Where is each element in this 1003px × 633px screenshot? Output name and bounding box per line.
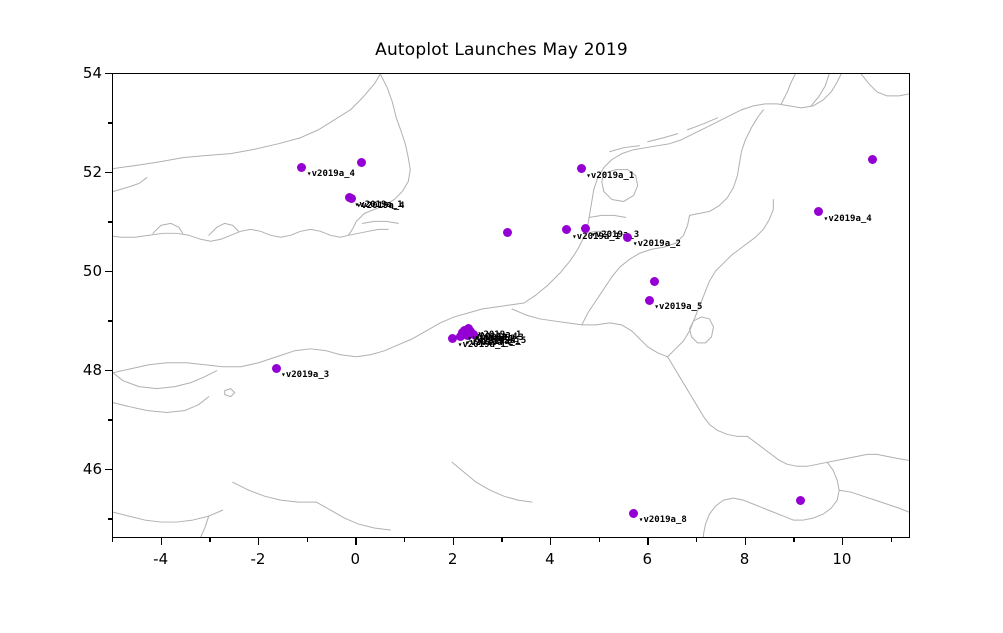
scatter-point[interactable] [503, 228, 512, 237]
scatter-point-label: ▾v2019a_4 [307, 169, 355, 179]
scatter-point-label: ▾v2019a_5 [654, 302, 702, 312]
x-tick-label: -4 [153, 550, 168, 568]
label-caret-icon: ▾ [591, 230, 596, 239]
scatter-point-label: ▾v2019a_4 [356, 201, 404, 211]
scatter-point[interactable] [347, 194, 356, 203]
scatter-point[interactable] [868, 155, 877, 164]
y-tick-label: 48 [60, 361, 102, 379]
x-major-tick [550, 538, 551, 545]
label-caret-icon: ▾ [654, 302, 659, 311]
label-caret-icon: ▾ [307, 169, 312, 178]
x-major-tick [161, 538, 162, 545]
scatter-point[interactable] [814, 207, 823, 216]
scatter-point[interactable] [562, 225, 571, 234]
scatter-point-label: ▾v2019a_3 [281, 370, 329, 380]
page-title: Autoplot Launches May 2019 [0, 40, 1003, 60]
y-minor-tick [108, 419, 112, 420]
label-caret-icon: ▾ [356, 201, 361, 210]
scatter-points-layer: ▾v2019a_4▾v2019a_1▾v2019a_4▾v2019a_3▾v20… [113, 74, 909, 537]
x-major-tick [647, 538, 648, 545]
scatter-point[interactable] [650, 277, 659, 286]
x-minor-tick [404, 538, 405, 542]
y-major-tick [105, 73, 112, 74]
plot-axes: ▾v2019a_4▾v2019a_1▾v2019a_4▾v2019a_3▾v20… [112, 73, 910, 538]
x-minor-tick [696, 538, 697, 542]
y-major-tick [105, 370, 112, 371]
label-caret-icon: ▾ [824, 214, 829, 223]
scatter-point-label: ▾v2019a_4 [824, 214, 872, 224]
x-tick-label: 2 [448, 550, 458, 568]
x-minor-tick [501, 538, 502, 542]
x-major-tick [453, 538, 454, 545]
x-tick-label: 10 [832, 550, 851, 568]
x-minor-tick [599, 538, 600, 542]
x-tick-label: -2 [250, 550, 265, 568]
scatter-point[interactable] [272, 364, 281, 373]
scatter-point-label: ▾v2019a_2 [633, 239, 681, 249]
y-minor-tick [108, 122, 112, 123]
x-major-tick [842, 538, 843, 545]
y-major-tick [105, 172, 112, 173]
x-minor-tick [307, 538, 308, 542]
y-tick-label: 52 [60, 163, 102, 181]
x-minor-tick [112, 538, 113, 542]
scatter-point[interactable] [645, 296, 654, 305]
scatter-point[interactable] [357, 158, 366, 167]
x-minor-tick [209, 538, 210, 542]
scatter-point[interactable] [458, 328, 467, 337]
y-tick-label: 46 [60, 460, 102, 478]
x-major-tick [745, 538, 746, 545]
y-major-tick [105, 271, 112, 272]
y-tick-label: 50 [60, 262, 102, 280]
x-tick-label: 8 [740, 550, 750, 568]
label-caret-icon: ▾ [633, 239, 638, 248]
label-caret-icon: ▾ [458, 340, 463, 349]
label-caret-icon: ▾ [467, 334, 472, 343]
y-minor-tick [108, 221, 112, 222]
y-tick-label: 54 [60, 64, 102, 82]
scatter-point[interactable] [623, 233, 632, 242]
scatter-point[interactable] [629, 509, 638, 518]
x-major-tick [258, 538, 259, 545]
scatter-point-label: ▾v2019a_8 [639, 515, 687, 525]
x-tick-label: 0 [351, 550, 361, 568]
label-caret-icon: ▾ [639, 515, 644, 524]
x-major-tick [355, 538, 356, 545]
x-tick-label: 4 [545, 550, 555, 568]
x-minor-tick [891, 538, 892, 542]
label-caret-icon: ▾ [281, 370, 286, 379]
figure-canvas: Autoplot Launches May 2019 [0, 0, 1003, 633]
label-caret-icon: ▾ [586, 171, 591, 180]
scatter-point-label: ▾v2019a_1 [586, 171, 634, 181]
x-minor-tick [793, 538, 794, 542]
y-minor-tick [108, 518, 112, 519]
y-minor-tick [108, 320, 112, 321]
label-caret-icon: ▾ [572, 232, 577, 241]
y-major-tick [105, 469, 112, 470]
scatter-point-label: ▾v2019a_2 [467, 334, 515, 344]
scatter-point[interactable] [577, 164, 586, 173]
scatter-point[interactable] [796, 496, 805, 505]
x-tick-label: 6 [642, 550, 652, 568]
scatter-point[interactable] [297, 163, 306, 172]
